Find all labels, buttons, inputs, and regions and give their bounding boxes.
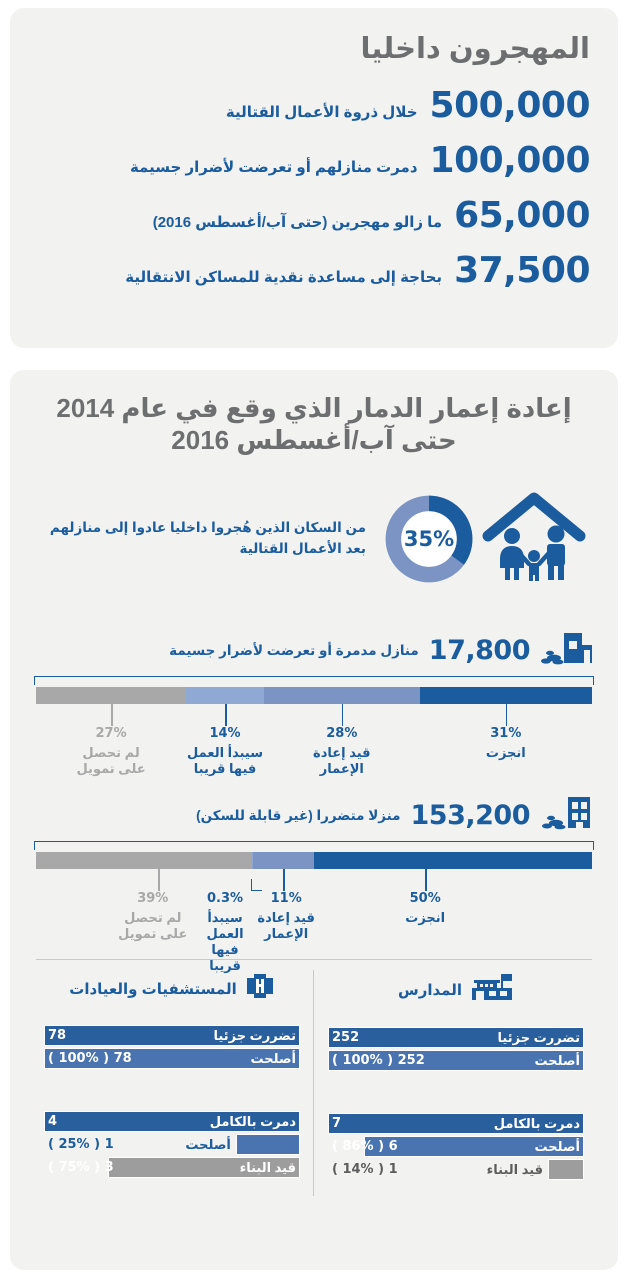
idp-stat-label: ما زالو مهجرين (حتى آب/أغسطس 2016) <box>38 214 442 232</box>
facility-bar <box>548 1159 584 1180</box>
legend-no-funding: 39% لم تحصل على تمويل <box>115 891 191 942</box>
destroyed-house-rubble-icon <box>538 631 594 670</box>
tick-completed <box>425 869 427 891</box>
family-under-roof-icon <box>482 490 586 587</box>
damaged-apartment-building-icon <box>538 796 594 835</box>
facility-column-schools: المدارس تضررت جزئيا 252 أصلحت <box>314 966 598 1206</box>
bar-tick-marks <box>36 704 592 726</box>
legend-label: سيبدأ العمل فيها قريبا <box>182 745 268 778</box>
facility-row-value: 1 ( 14% ) <box>332 1162 398 1177</box>
idp-card: المهجرون داخليا 500,000 خلال ذروة الأعما… <box>10 8 618 348</box>
facility-row-text: تضررت جزئيا 252 <box>332 1027 580 1048</box>
idp-stat-label: دمرت منازلهم أو تعرضت لأضرار جسيمة <box>38 159 418 177</box>
bar-block-damaged-homes: 153,200 منزلا متضررا (غير قابلة للسكن) 5… <box>30 796 598 947</box>
donut-percent-label: 35% <box>382 492 476 586</box>
bar-legend-group: 31% انجزت 28% قيد إعادة الإعمار 14% سيبد… <box>36 726 592 784</box>
legend-percent: 27% <box>68 726 154 742</box>
facility-row-label: تضررت جزئيا <box>214 1028 296 1044</box>
idp-section-title: المهجرون داخليا <box>38 34 590 66</box>
legend-completed: 50% انجزت <box>405 891 445 926</box>
bar-segment-under-reconstruction <box>264 687 420 704</box>
idp-stat-number: 65,000 <box>454 198 590 234</box>
facility-row-text: أصلحت 252 ( 100% ) <box>332 1050 580 1071</box>
facility-header: المستشفيات والعيادات <box>44 972 300 1005</box>
facility-row-repaired: أصلحت 1 ( 25% ) <box>44 1134 300 1155</box>
bar-bracket <box>34 676 594 685</box>
facility-group-fully-destroyed: دمرت بالكامل 7 أصلحت 6 ( 86% ) <box>328 1113 584 1180</box>
idp-stat-row: 500,000 خلال ذروة الأعمال القتالية <box>38 88 590 124</box>
legend-label: انجزت <box>486 745 526 761</box>
legend-no-funding: 27% لم تحصل على تمويل <box>68 726 154 777</box>
bar-block-destroyed-homes: 17,800 منازل مدمرة أو تعرضت لأضرار جسيمة… <box>30 631 598 784</box>
facility-row-value: 252 <box>332 1030 359 1045</box>
facility-row-value: 1 ( 25% ) <box>48 1137 114 1152</box>
bar-block-number: 17,800 <box>429 637 530 664</box>
facility-row-label: دمرت بالكامل <box>494 1116 580 1132</box>
tick-starting-soon <box>225 704 227 726</box>
facilities-section: المدارس تضررت جزئيا 252 أصلحت <box>30 966 598 1206</box>
legend-completed: 31% انجزت <box>486 726 526 761</box>
legend-under-reconstruction: 28% قيد إعادة الإعمار <box>299 726 385 777</box>
facility-name: المستشفيات والعيادات <box>69 980 237 998</box>
reconstruction-section-title: إعادة إعمار الدمار الذي وقع في عام 2014 … <box>30 392 598 456</box>
legend-label: قيد إعادة الإعمار <box>255 910 317 943</box>
legend-starting-soon: 14% سيبدأ العمل فيها قريبا <box>182 726 268 777</box>
idp-stat-row: 37,500 بحاجة إلى مساعدة نقدية للمساكن ال… <box>38 253 590 289</box>
facility-row-label: قيد البناء <box>487 1162 543 1178</box>
idp-stat-row: 100,000 دمرت منازلهم أو تعرضت لأضرار جسي… <box>38 143 590 179</box>
facility-row-text: أصلحت 1 ( 25% ) <box>48 1134 231 1155</box>
facility-row-value: 3 ( 75% ) <box>48 1160 114 1175</box>
facility-row-repaired: أصلحت 252 ( 100% ) <box>328 1050 584 1071</box>
facilities-divider <box>36 959 592 960</box>
returnee-block: 35% من السكان الذين هُجروا داخليا عادوا … <box>30 490 598 587</box>
bar-block-caption: منازل مدمرة أو تعرضت لأضرار جسيمة <box>30 643 419 659</box>
bar-segment-under-reconstruction <box>253 852 314 869</box>
facility-group-fully-destroyed: دمرت بالكامل 4 أصلحت 1 ( 25% ) <box>44 1111 300 1178</box>
facility-row-text: دمرت بالكامل 7 <box>332 1113 580 1134</box>
school-building-icon <box>470 972 514 1007</box>
bar-segment-no-funding <box>36 852 251 869</box>
bar-bracket <box>34 841 594 850</box>
facility-row-header: تضررت جزئيا 78 <box>44 1025 300 1046</box>
stacked-bar <box>36 852 592 869</box>
tick-completed <box>506 704 508 726</box>
legend-label: انجزت <box>405 910 445 926</box>
facility-row-value: 4 <box>48 1114 57 1129</box>
legend-percent: 39% <box>115 891 191 907</box>
facility-row-text: أصلحت 6 ( 86% ) <box>332 1136 580 1157</box>
legend-percent: 11% <box>255 891 317 907</box>
facility-row-header: دمرت بالكامل 4 <box>44 1111 300 1132</box>
reconstruction-card: إعادة إعمار الدمار الذي وقع في عام 2014 … <box>10 370 618 1270</box>
legend-label: لم تحصل على تمويل <box>115 910 191 943</box>
stacked-bar <box>36 687 592 704</box>
facility-column-hospitals: المستشفيات والعيادات تضررت جزئيا 78 <box>30 966 314 1206</box>
idp-stat-number: 37,500 <box>454 253 590 289</box>
facility-row-text: قيد البناء 3 ( 75% ) <box>48 1157 296 1178</box>
idp-stat-number: 100,000 <box>430 143 590 179</box>
facility-row-value: 78 <box>48 1028 66 1043</box>
returnee-donut-chart: 35% <box>382 492 476 586</box>
facility-row-text: أصلحت 78 ( 100% ) <box>48 1048 296 1069</box>
infographic-page: المهجرون داخليا 500,000 خلال ذروة الأعما… <box>0 0 628 1282</box>
facility-row-value: 7 <box>332 1116 341 1131</box>
returnee-description: من السكان الذين هُجروا داخليا عادوا إلى … <box>38 518 366 560</box>
legend-percent: 0.3% <box>194 891 256 907</box>
facility-bar <box>236 1134 300 1155</box>
bar-legend-group: 50% انجزت 11% قيد إعادة الإعمار 0.3% سيب… <box>36 891 592 947</box>
bar-block-caption: منزلا متضررا (غير قابلة للسكن) <box>30 808 401 824</box>
facility-row-label: أصلحت <box>185 1137 230 1153</box>
tick-under-reconstruction <box>342 704 344 726</box>
facility-row-text: دمرت بالكامل 4 <box>48 1111 296 1132</box>
idp-stat-row: 65,000 ما زالو مهجرين (حتى آب/أغسطس 2016… <box>38 198 590 234</box>
facility-row-label: قيد البناء <box>240 1160 296 1176</box>
bar-segment-completed <box>420 687 592 704</box>
facility-row-repaired: أصلحت 6 ( 86% ) <box>328 1136 584 1157</box>
legend-percent: 28% <box>299 726 385 742</box>
bar-block-header: 153,200 منزلا متضررا (غير قابلة للسكن) <box>30 796 598 835</box>
legend-percent: 31% <box>486 726 526 742</box>
legend-label: لم تحصل على تمويل <box>68 745 154 778</box>
idp-stat-label: خلال ذروة الأعمال القتالية <box>38 104 418 122</box>
facility-name: المدارس <box>398 981 462 999</box>
facility-row-label: تضررت جزئيا <box>498 1030 580 1046</box>
idp-stat-label: بحاجة إلى مساعدة نقدية للمساكن الانتقالي… <box>38 269 442 287</box>
legend-starting-soon: 0.3% سيبدأ العمل فيها قريبا <box>194 891 256 974</box>
bar-block-header: 17,800 منازل مدمرة أو تعرضت لأضرار جسيمة <box>30 631 598 670</box>
facility-row-under-construction: قيد البناء 1 ( 14% ) <box>328 1159 584 1180</box>
facility-row-repaired: أصلحت 78 ( 100% ) <box>44 1048 300 1069</box>
facility-row-label: أصلحت <box>535 1139 580 1155</box>
legend-under-reconstruction: 11% قيد إعادة الإعمار <box>255 891 317 942</box>
facility-row-under-construction: قيد البناء 3 ( 75% ) <box>44 1157 300 1178</box>
facility-row-value: 78 ( 100% ) <box>48 1051 132 1066</box>
facility-row-text: قيد البناء 1 ( 14% ) <box>332 1159 543 1180</box>
bar-tick-marks <box>36 869 592 891</box>
facility-row-header: تضررت جزئيا 252 <box>328 1027 584 1048</box>
facility-row-header: دمرت بالكامل 7 <box>328 1113 584 1134</box>
tick-no-funding <box>111 704 113 726</box>
bar-segment-completed <box>314 852 592 869</box>
legend-percent: 50% <box>405 891 445 907</box>
idp-stat-number: 500,000 <box>430 88 590 124</box>
facility-group-partially-damaged: تضررت جزئيا 252 أصلحت 252 ( 100% ) <box>328 1027 584 1071</box>
bar-segment-starting-soon <box>186 687 264 704</box>
facility-row-value: 252 ( 100% ) <box>332 1053 425 1068</box>
facility-row-label: أصلحت <box>535 1053 580 1069</box>
legend-label: سيبدأ العمل فيها قريبا <box>194 910 256 975</box>
facility-row-text: تضررت جزئيا 78 <box>48 1025 296 1046</box>
legend-label: قيد إعادة الإعمار <box>299 745 385 778</box>
bar-block-number: 153,200 <box>411 802 530 829</box>
bar-segment-no-funding <box>36 687 186 704</box>
facility-row-value: 6 ( 86% ) <box>332 1139 398 1154</box>
facility-row-label: دمرت بالكامل <box>210 1114 296 1130</box>
legend-percent: 14% <box>182 726 268 742</box>
tick-under-reconstruction <box>283 869 285 891</box>
hospital-h-icon <box>245 972 275 1005</box>
tick-no-funding <box>158 869 160 891</box>
facility-group-partially-damaged: تضررت جزئيا 78 أصلحت 78 ( 100% ) <box>44 1025 300 1069</box>
facility-header: المدارس <box>328 972 584 1007</box>
tick-starting-soon-elbow <box>251 879 262 891</box>
facility-row-label: أصلحت <box>251 1051 296 1067</box>
